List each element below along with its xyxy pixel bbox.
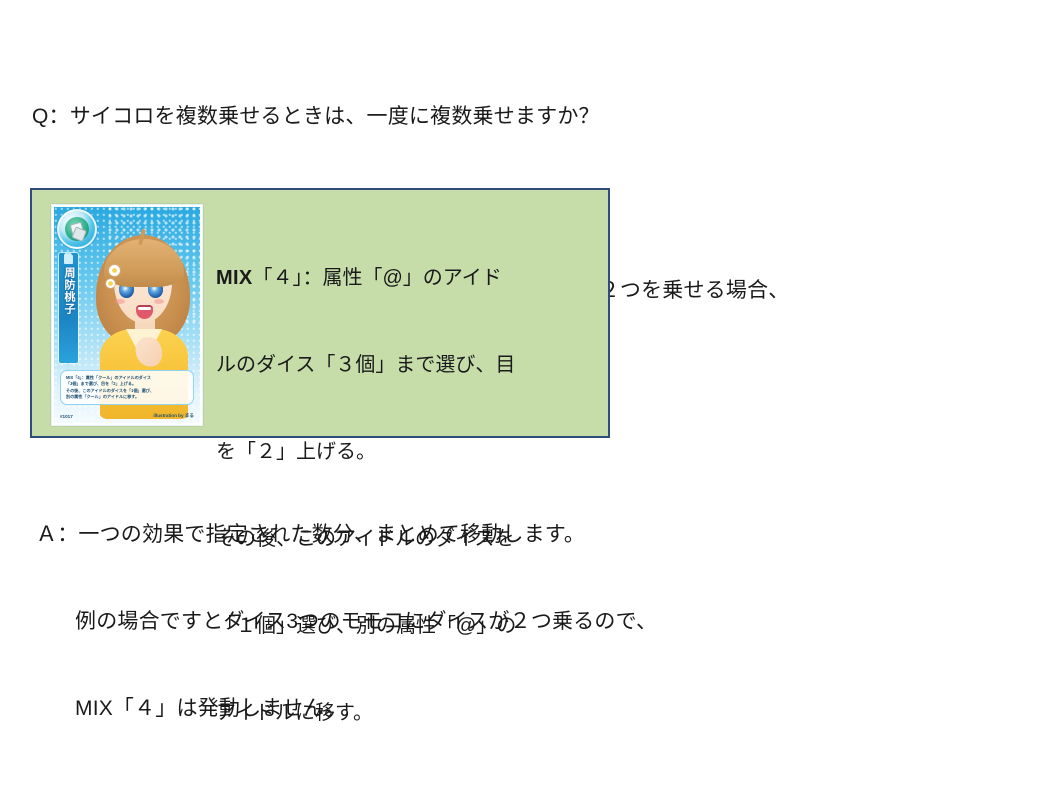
flower-hairpin-icon-2 [106,279,115,288]
blush-left [115,299,125,304]
answer-block: Ａ：一つの効果で指定された数分、まとめて移動します。 例の場合ですとダイス3つの… [36,462,657,752]
skill-line-2: ルのダイス「３個」まで選び、目 [216,351,588,380]
idol-name-text: 周防桃子 [63,267,74,315]
heart-icon [64,255,73,264]
answer-line-2: 例の場合ですとダイス3つのモモコにダイスが２つ乗るので、 [36,607,657,636]
flower-hairpin-icon-1 [109,265,120,276]
idol-card-image: 周防桃子 MIX「4」：属性「クール」のアイドルのダイス 「3個」まで選び、目を… [51,204,203,426]
card-effect-line-4: 別の属性「クール」のアイドルに移す。 [66,394,188,400]
question-line-1: Q：サイコロを複数乗せるときは、一度に複数乗せますか？ [32,102,790,131]
answer-line-1: Ａ：一つの効果で指定された数分、まとめて移動します。 [36,520,657,549]
card-number: #1017 [60,414,73,419]
card-footer: #1017 illustration by まる [60,413,194,419]
card-highlight-box: 周防桃子 MIX「4」：属性「クール」のアイドルのダイス 「3個」まで選び、目を… [30,188,610,438]
answer-line-3: MIX「４」は発動しません。 [36,694,657,723]
idol-name-banner: 周防桃子 [59,253,78,363]
dice-emblem-inner [65,217,89,241]
illustrator-credit: illustration by まる [153,413,194,419]
blush-right [154,299,164,304]
skill-line-1: MIX「４」：属性「@」のアイド [216,264,588,293]
dice-icon-b [71,226,87,242]
card-effect-textbox: MIX「4」：属性「クール」のアイドルのダイス 「3個」まで選び、目を「2」上げ… [60,370,194,405]
